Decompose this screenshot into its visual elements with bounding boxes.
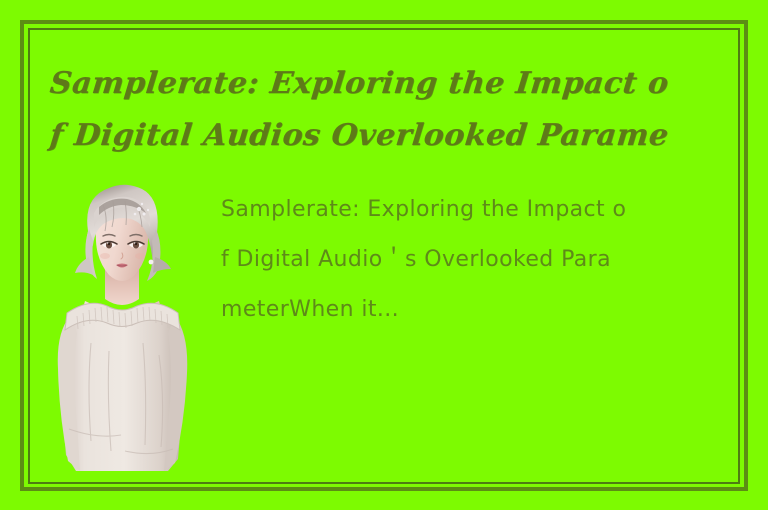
article-summary-line-1: Samplerate: Exploring the Impact o <box>221 185 691 235</box>
character-portrait-image <box>47 183 197 471</box>
article-summary: Samplerate: Exploring the Impact o f Dig… <box>221 185 691 335</box>
page-title: Samplerate: Exploring the Impact o f Dig… <box>50 58 690 162</box>
article-card: Samplerate: Exploring the Impact o f Dig… <box>0 0 768 510</box>
article-summary-line-3: meterWhen it... <box>221 285 691 335</box>
page-title-line-1: Samplerate: Exploring the Impact o <box>47 58 692 110</box>
article-summary-line-2: f Digital Audio＇s Overlooked Para <box>221 235 691 285</box>
page-title-line-2: f Digital Audios Overlooked Parame <box>47 110 692 162</box>
